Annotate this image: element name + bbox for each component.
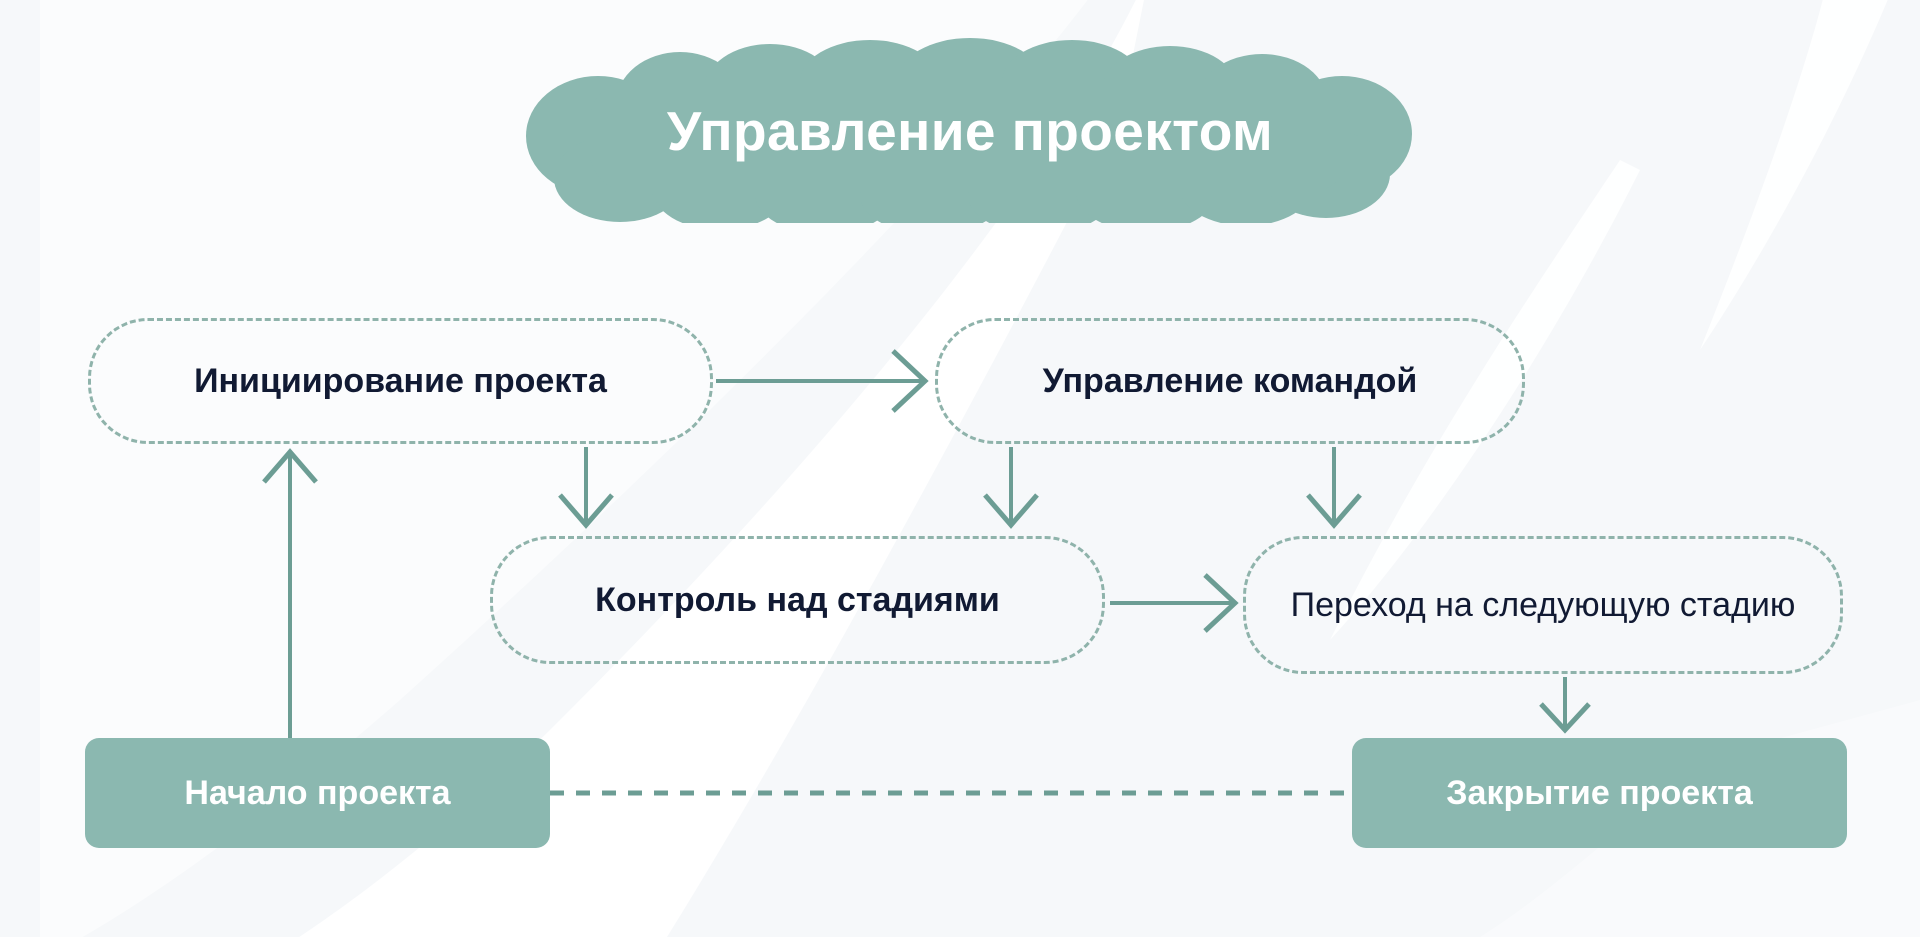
node-initiation[interactable]: Инициирование проекта (88, 318, 713, 444)
edge-start-to-initiation (264, 452, 316, 738)
node-project-closure[interactable]: Закрытие проекта (1352, 738, 1847, 848)
edge-initiation-to-stage-control (560, 447, 612, 525)
node-next-stage[interactable]: Переход на следующую стадию (1243, 536, 1843, 674)
node-next-stage-label: Переход на следующую стадию (1265, 585, 1822, 625)
node-team-management[interactable]: Управление командой (935, 318, 1525, 444)
node-initiation-label: Инициирование проекта (168, 361, 633, 401)
title-text: Управление проектом (520, 38, 1420, 223)
node-project-start-label: Начало проекта (184, 774, 450, 813)
edge-team-to-next-stage (1308, 447, 1360, 525)
diagram-canvas: Управление проектом (0, 0, 1920, 937)
node-stage-control-label: Контроль над стадиями (569, 580, 1026, 620)
node-stage-control[interactable]: Контроль над стадиями (490, 536, 1105, 664)
title-banner: Управление проектом (520, 38, 1420, 223)
edge-team-to-stage-control (985, 447, 1037, 525)
node-project-closure-label: Закрытие проекта (1446, 774, 1753, 813)
edge-next-stage-to-closure (1541, 677, 1589, 730)
edge-initiation-to-team (716, 351, 925, 411)
edge-stage-control-to-next-stage (1110, 575, 1235, 631)
node-team-management-label: Управление командой (1017, 361, 1444, 401)
node-project-start[interactable]: Начало проекта (85, 738, 550, 848)
